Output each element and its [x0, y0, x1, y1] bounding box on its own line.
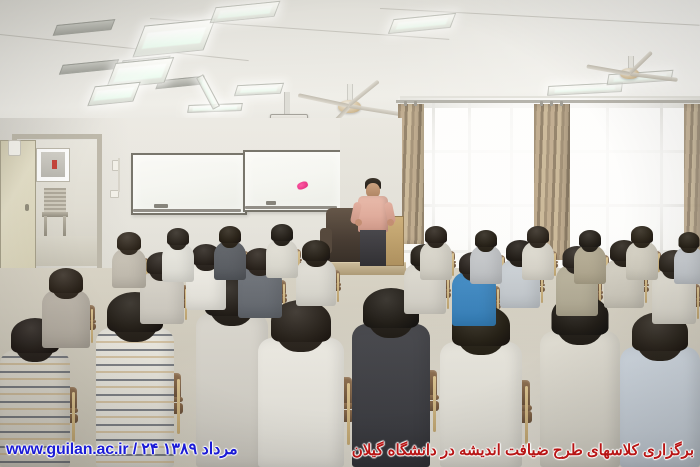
- curtain-rod: [396, 100, 700, 103]
- audience-member-hair: [271, 224, 293, 241]
- curtain-ring: [414, 101, 417, 106]
- audience-member-hair: [49, 268, 83, 293]
- corridor-chair-back: [44, 188, 66, 214]
- audience-member: [626, 226, 658, 280]
- audience-member: [352, 288, 430, 467]
- audience-member-torso: [0, 350, 70, 467]
- chair-leg: [525, 386, 528, 444]
- audience-member: [574, 230, 606, 284]
- audience-member: [296, 240, 336, 306]
- audience-member-hair: [527, 226, 549, 243]
- audience-member-hair: [679, 232, 700, 248]
- chair-leg: [347, 383, 350, 444]
- audience-member: [674, 232, 700, 284]
- audience-member: [258, 300, 344, 467]
- door-handle[interactable]: [25, 204, 29, 211]
- presenter-legs: [360, 230, 386, 266]
- audience-member: [42, 268, 90, 348]
- curtain-ring: [540, 101, 543, 106]
- audience-member-torso: [620, 347, 700, 467]
- audience-member-hair: [475, 230, 497, 247]
- audience-member-torso: [540, 331, 620, 467]
- audience-member: [522, 226, 554, 280]
- audience-member: [470, 230, 502, 284]
- chair-leg: [433, 376, 436, 432]
- presenter-hand-right: [387, 219, 394, 226]
- curtain-ring: [550, 101, 553, 106]
- audience-member: [162, 228, 194, 282]
- wall-notice: [8, 140, 21, 156]
- audience-member-hair: [425, 226, 447, 243]
- whiteboard-marker[interactable]: [266, 201, 276, 205]
- audience-member: [266, 224, 298, 278]
- audience-member: [440, 305, 522, 467]
- audience-member-hair: [167, 228, 189, 245]
- curtain-ring: [404, 101, 407, 106]
- audience-member: [112, 232, 146, 288]
- whiteboard-panel-right: [243, 150, 343, 212]
- whiteboard-tray: [245, 206, 337, 209]
- corridor-poster: [36, 148, 70, 182]
- audience-member-hair: [219, 226, 241, 243]
- audience-member: [620, 312, 700, 467]
- projector-mount-pole: [284, 92, 290, 114]
- presenter-hand-left: [355, 219, 362, 226]
- audience-member-hair: [631, 226, 653, 243]
- open-door[interactable]: [0, 140, 36, 272]
- corridor-chair-leg: [63, 216, 66, 236]
- audience-member-torso: [96, 328, 174, 467]
- audience-member: [420, 226, 452, 280]
- chair-leg: [337, 273, 339, 302]
- whiteboard-panel-left: [131, 153, 247, 215]
- wall-conduit: [118, 158, 120, 192]
- audience-member: [540, 295, 620, 467]
- classroom-photograph: www.guilan.ac.ir / ۲۴ مرداد ۱۳۸۹ برگزاری…: [0, 0, 700, 467]
- presenter-torso: [358, 196, 388, 232]
- door-frame-header: [12, 134, 102, 139]
- audience-member-hair: [117, 232, 141, 250]
- shirt-stripes: [96, 328, 174, 467]
- audience-member-hair: [579, 230, 601, 247]
- chair-leg: [72, 392, 75, 442]
- audience-member-torso: [352, 324, 430, 467]
- shirt-stripes: [0, 350, 70, 467]
- audience-member-hair: [302, 240, 330, 261]
- whiteboard-tray: [133, 209, 241, 212]
- audience-member-torso: [440, 342, 522, 467]
- corridor-chair-leg: [44, 216, 47, 236]
- audience-member: [214, 226, 246, 280]
- audience-member-torso: [258, 338, 344, 467]
- door-frame: [97, 134, 102, 270]
- curtain-ring: [560, 101, 563, 106]
- whiteboard-eraser[interactable]: [154, 204, 168, 208]
- chair-leg: [177, 379, 180, 435]
